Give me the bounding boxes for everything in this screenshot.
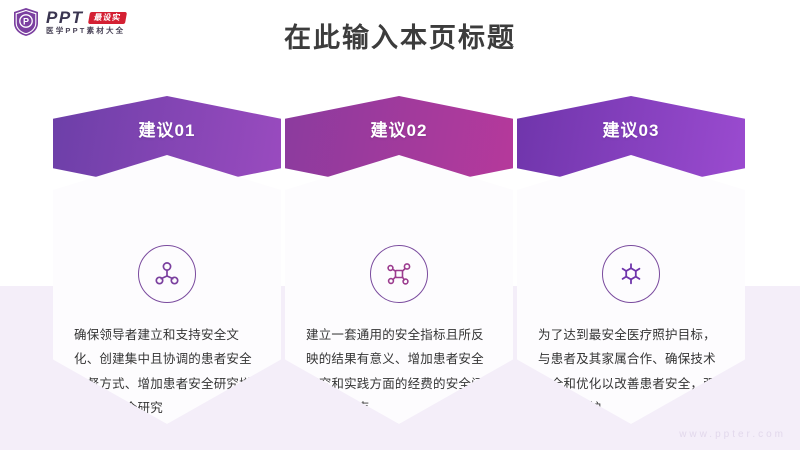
card-2[interactable]: 建议02 建立一套通用的安 bbox=[285, 96, 513, 424]
page-title: 在此输入本页标题 bbox=[0, 20, 800, 58]
card-3-text: 为了达到最安全医疗照护目标，与患者及其家属合作、确保技术安全和优化以改善患者安全… bbox=[538, 323, 724, 421]
card-2-title: 建议02 bbox=[285, 122, 513, 139]
card-1-title: 建议01 bbox=[53, 122, 281, 139]
site-watermark: www.ppter.com bbox=[679, 429, 786, 440]
card-3[interactable]: 建议03 为了达到最安全医疗照护目标，与患者及其家属合作、确保技术安全和优化以 bbox=[517, 96, 745, 424]
card-deck: 建议01 确保领导者建立和支持安全文化、创建集中且协调的患者安全监督方式、增加患… bbox=[53, 96, 747, 424]
share-nodes-icon bbox=[138, 245, 196, 303]
network-molecule-icon bbox=[370, 245, 428, 303]
gear-sun-icon bbox=[602, 245, 660, 303]
card-2-body: 建立一套通用的安全指标且所反映的结果有意义、增加患者安全研究和实践方面的经费的安… bbox=[285, 155, 513, 424]
card-1-text: 确保领导者建立和支持安全文化、创建集中且协调的患者安全监督方式、增加患者安全研究… bbox=[74, 323, 260, 421]
card-2-text: 建立一套通用的安全指标且所反映的结果有意义、增加患者安全研究和实践方面的经费的安… bbox=[306, 323, 492, 421]
card-3-body: 为了达到最安全医疗照护目标，与患者及其家属合作、确保技术安全和优化以改善患者安全… bbox=[517, 155, 745, 424]
card-1[interactable]: 建议01 确保领导者建立和支持安全文化、创建集中且协调的患者安全监督方式、增加患… bbox=[53, 96, 281, 424]
card-1-body: 确保领导者建立和支持安全文化、创建集中且协调的患者安全监督方式、增加患者安全研究… bbox=[53, 155, 281, 424]
card-3-title: 建议03 bbox=[517, 122, 745, 139]
